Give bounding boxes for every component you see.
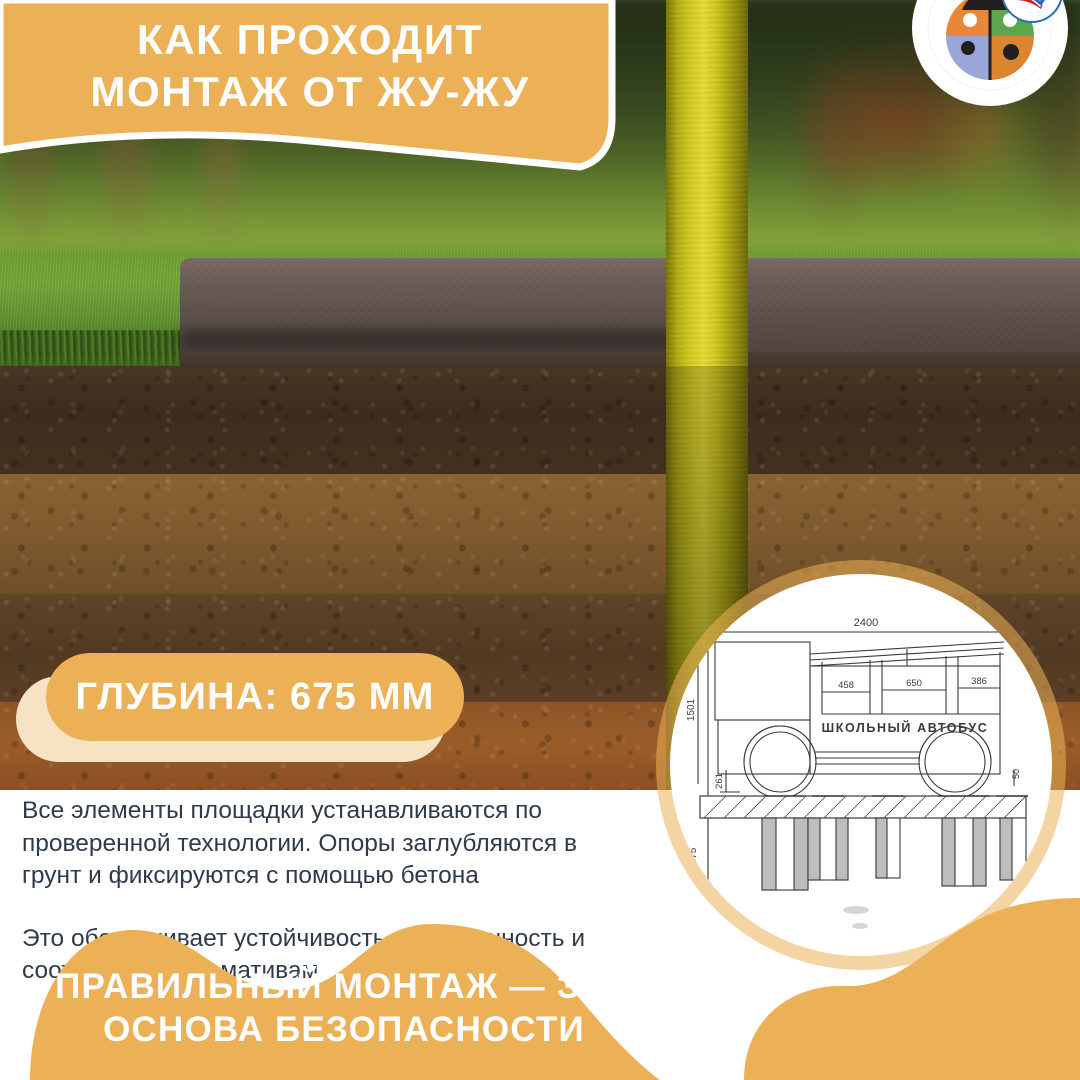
- footer-blob-right: [744, 898, 1080, 1080]
- footer-title-line-2: ОСНОВА БЕЗОПАСНОСТИ: [34, 1008, 654, 1052]
- depth-badge: ГЛУБИНА: 675 ММ: [46, 653, 464, 741]
- header-title-line-1: КАК ПРОХОДИТ: [137, 16, 483, 63]
- ladybug-spot-1: [963, 13, 977, 27]
- bus-hood-box: [718, 720, 810, 774]
- ladybug-spot-4: [1003, 44, 1019, 60]
- dim-segment-3: 386: [971, 676, 987, 687]
- depth-badge-label: ГЛУБИНА: 675 ММ: [76, 676, 435, 719]
- body-paragraph-1: Все элементы площадки устанавливаются по…: [22, 795, 622, 893]
- soil-layer-topsoil: [0, 366, 1080, 474]
- header-title: КАК ПРОХОДИТ МОНТАЖ ОТ ЖУ-ЖУ: [0, 14, 620, 118]
- ladybug-spot-3: [961, 41, 975, 55]
- ground-slab: [700, 796, 1026, 818]
- dim-overall-height: 1501: [686, 698, 697, 721]
- footer-title-line-1: ПРАВИЛЬНЫЙ МОНТАЖ — ЭТО: [55, 967, 633, 1006]
- dim-right-small: 50: [1011, 769, 1021, 779]
- dim-foundation-depth: 675: [688, 847, 699, 864]
- dim-overall-width: 2400: [854, 617, 878, 629]
- footer-banner: ПРАВИЛЬНЫЙ МОНТАЖ — ЭТО ОСНОВА БЕЗОПАСНО…: [0, 880, 1080, 1080]
- ladybug-logo[interactable]: [910, 0, 1070, 108]
- dim-segment-2: 650: [906, 678, 922, 689]
- dim-ground-clearance: 261: [714, 773, 725, 789]
- header-title-line-2: МОНТАЖ ОТ ЖУ-ЖУ: [0, 66, 620, 118]
- footer-title: ПРАВИЛЬНЫЙ МОНТАЖ — ЭТО ОСНОВА БЕЗОПАСНО…: [34, 965, 654, 1053]
- poster-canvas: КАК ПРОХОДИТ МОНТАЖ ОТ ЖУ-ЖУ: [0, 0, 1080, 1080]
- dim-segment-1: 458: [838, 680, 854, 691]
- bus-cab-box: [715, 642, 810, 720]
